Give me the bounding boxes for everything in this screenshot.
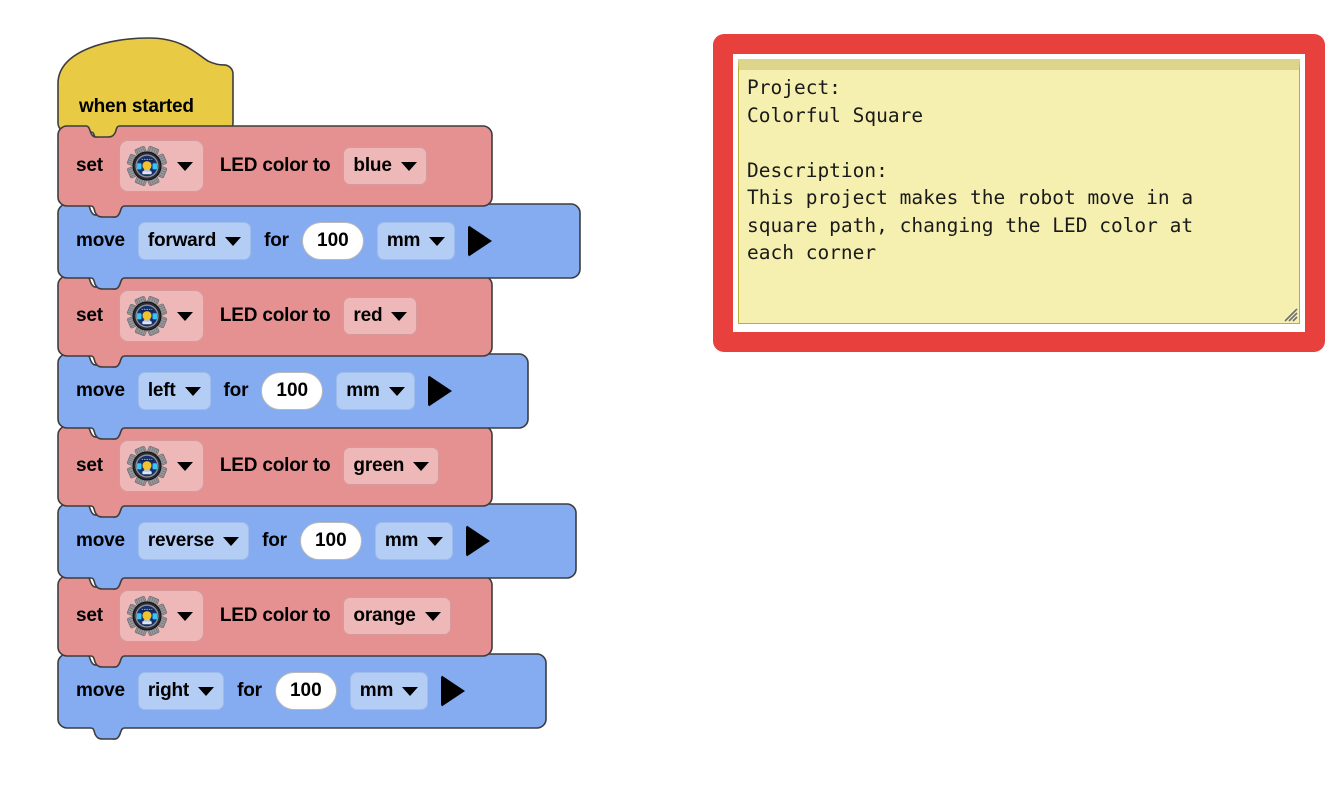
chevron-down-icon[interactable] <box>391 312 407 321</box>
block-set-prefix-label: set <box>76 605 103 627</box>
chevron-down-icon[interactable] <box>185 387 201 396</box>
device-selector-dropdown[interactable] <box>119 590 204 642</box>
move-units-dropdown[interactable]: mm <box>377 222 455 260</box>
chevron-down-icon[interactable] <box>401 162 417 171</box>
chevron-down-icon[interactable] <box>223 537 239 546</box>
move-direction-dropdown-value: left <box>148 380 176 402</box>
move-distance-input-value: 100 <box>290 680 322 702</box>
block-set-led-color[interactable]: set <box>58 126 492 206</box>
block-move-for-label: for <box>237 680 262 702</box>
move-direction-dropdown[interactable]: forward <box>138 222 251 260</box>
move-direction-dropdown[interactable]: reverse <box>138 522 249 560</box>
move-direction-dropdown-value: right <box>148 680 189 702</box>
device-selector-dropdown[interactable] <box>119 440 204 492</box>
play-triangle-icon[interactable] <box>468 225 492 257</box>
move-units-dropdown-value: mm <box>385 530 418 552</box>
block-set-prefix-label: set <box>76 155 103 177</box>
block-content: set <box>76 126 427 206</box>
play-triangle-icon[interactable] <box>466 525 490 557</box>
block-when-started[interactable]: when started <box>58 36 233 132</box>
move-units-dropdown[interactable]: mm <box>375 522 453 560</box>
block-move-prefix-label: move <box>76 230 125 252</box>
block-move-for-label: for <box>264 230 289 252</box>
robot-brain-icon <box>126 445 168 487</box>
led-color-dropdown-value: orange <box>353 605 415 627</box>
move-distance-input-value: 100 <box>276 380 308 402</box>
move-units-dropdown-value: mm <box>346 380 379 402</box>
move-units-dropdown[interactable]: mm <box>350 672 428 710</box>
chevron-down-icon[interactable] <box>177 162 193 171</box>
move-distance-input[interactable]: 100 <box>275 672 337 710</box>
block-move-prefix-label: move <box>76 530 125 552</box>
robot-brain-icon <box>126 295 168 337</box>
move-direction-dropdown[interactable]: right <box>138 672 224 710</box>
block-move-for-label: for <box>262 530 287 552</box>
move-direction-dropdown-value: reverse <box>148 530 214 552</box>
chevron-down-icon[interactable] <box>429 237 445 246</box>
block-set-prefix-label: set <box>76 305 103 327</box>
device-selector-dropdown[interactable] <box>119 140 204 192</box>
move-direction-dropdown[interactable]: left <box>138 372 211 410</box>
block-when-started-label: when started <box>79 96 194 118</box>
block-content: when started <box>79 82 194 132</box>
chevron-down-icon[interactable] <box>225 237 241 246</box>
chevron-down-icon[interactable] <box>413 462 429 471</box>
note-paper-frame <box>733 54 1305 332</box>
robot-brain-icon <box>126 595 168 637</box>
move-units-dropdown-value: mm <box>387 230 420 252</box>
block-set-middle-label: LED color to <box>220 155 331 177</box>
led-color-dropdown[interactable]: orange <box>343 597 450 635</box>
chevron-down-icon[interactable] <box>198 687 214 696</box>
chevron-down-icon[interactable] <box>177 462 193 471</box>
chevron-down-icon[interactable] <box>425 612 441 621</box>
led-color-dropdown-value: red <box>353 305 382 327</box>
move-units-dropdown[interactable]: mm <box>336 372 414 410</box>
play-triangle-icon[interactable] <box>428 375 452 407</box>
block-set-middle-label: LED color to <box>220 305 331 327</box>
led-color-dropdown-value: green <box>353 455 404 477</box>
chevron-down-icon[interactable] <box>402 687 418 696</box>
project-description-textarea[interactable] <box>738 59 1300 324</box>
block-set-middle-label: LED color to <box>220 455 331 477</box>
move-distance-input[interactable]: 100 <box>300 522 362 560</box>
move-distance-input-value: 100 <box>315 530 347 552</box>
block-move-prefix-label: move <box>76 680 125 702</box>
led-color-dropdown[interactable]: blue <box>343 147 426 185</box>
move-units-dropdown-value: mm <box>360 680 393 702</box>
led-color-dropdown[interactable]: red <box>343 297 417 335</box>
led-color-dropdown-value: blue <box>353 155 391 177</box>
block-move-for-label: for <box>224 380 249 402</box>
move-direction-dropdown-value: forward <box>148 230 216 252</box>
block-move-prefix-label: move <box>76 380 125 402</box>
device-selector-dropdown[interactable] <box>119 290 204 342</box>
block-set-prefix-label: set <box>76 455 103 477</box>
move-distance-input[interactable]: 100 <box>302 222 364 260</box>
chevron-down-icon[interactable] <box>177 312 193 321</box>
block-workspace: when startedset <box>0 0 700 794</box>
project-note-panel <box>713 34 1325 352</box>
play-triangle-icon[interactable] <box>441 675 465 707</box>
block-set-middle-label: LED color to <box>220 605 331 627</box>
move-distance-input[interactable]: 100 <box>261 372 323 410</box>
move-distance-input-value: 100 <box>317 230 349 252</box>
chevron-down-icon[interactable] <box>427 537 443 546</box>
chevron-down-icon[interactable] <box>389 387 405 396</box>
robot-brain-icon <box>126 145 168 187</box>
led-color-dropdown[interactable]: green <box>343 447 439 485</box>
chevron-down-icon[interactable] <box>177 612 193 621</box>
